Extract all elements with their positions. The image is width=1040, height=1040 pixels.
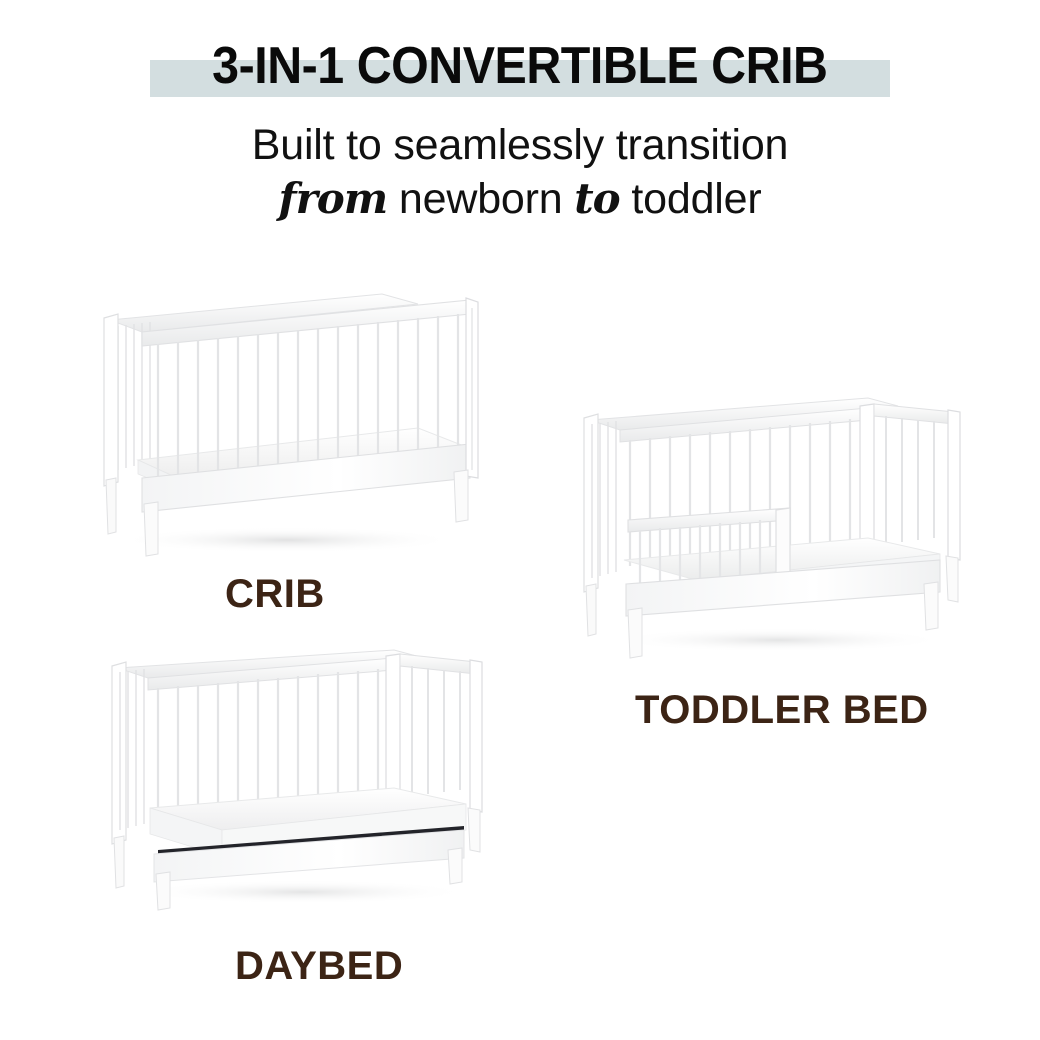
product-label-daybed: DAYBED xyxy=(235,944,403,989)
product-image-toddler-bed xyxy=(568,388,968,663)
subtitle-word-from: from xyxy=(279,174,388,223)
page-title: 3-IN-1 CONVERTIBLE CRIB xyxy=(212,38,827,94)
daybed-icon xyxy=(98,644,493,914)
toddler-bed-icon xyxy=(568,388,968,663)
product-image-crib xyxy=(82,282,482,562)
crib-icon xyxy=(82,282,482,562)
product-image-daybed xyxy=(98,644,493,914)
subtitle-line-1: Built to seamlessly transition xyxy=(0,118,1040,172)
header: 3-IN-1 CONVERTIBLE CRIB Built to seamles… xyxy=(0,0,1040,240)
subtitle-word-newborn: newborn xyxy=(399,175,563,223)
subtitle-line-2: from newborn to toddler xyxy=(0,172,1040,226)
subtitle-word-to: to xyxy=(574,174,619,223)
product-label-toddler-bed: TODDLER BED xyxy=(635,688,929,733)
page-title-container: 3-IN-1 CONVERTIBLE CRIB xyxy=(0,38,1040,94)
subtitle-container: Built to seamlessly transition from newb… xyxy=(0,118,1040,226)
subtitle-word-toddler: toddler xyxy=(631,175,761,223)
product-label-crib: CRIB xyxy=(225,572,325,617)
